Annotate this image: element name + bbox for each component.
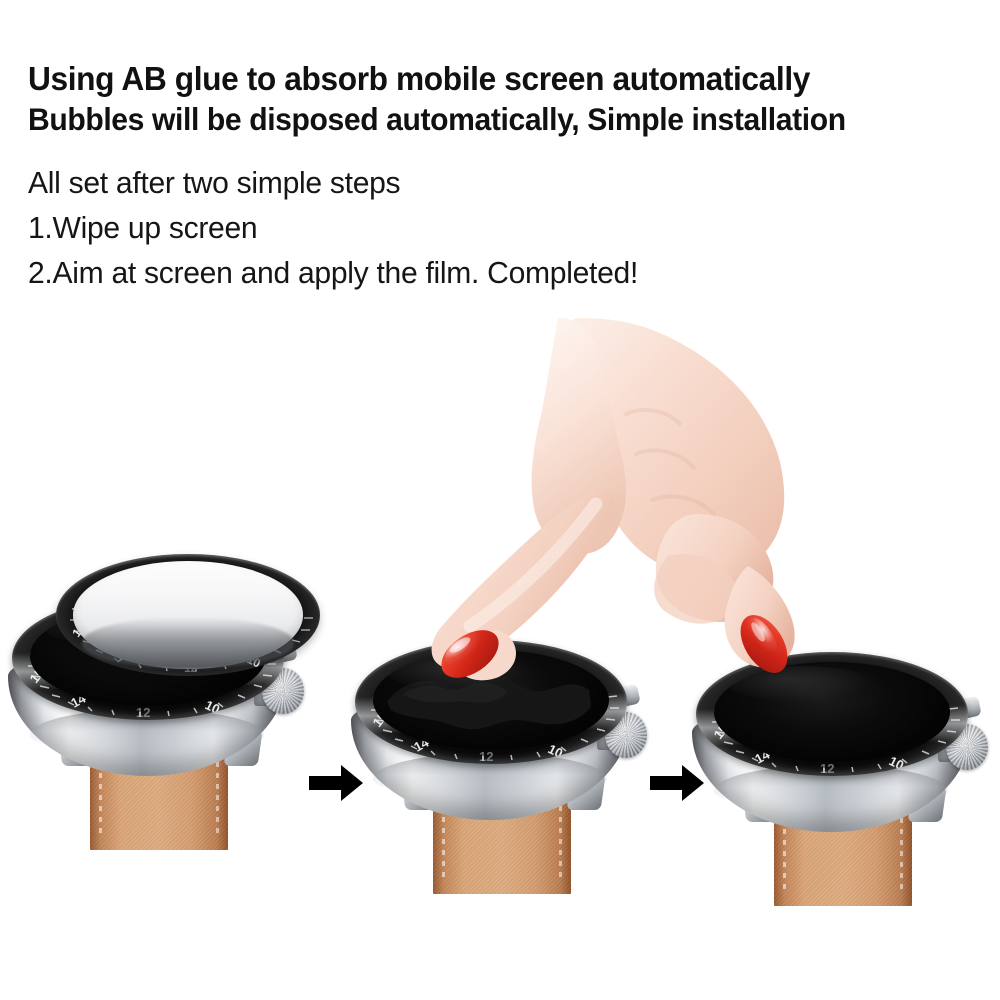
svg-text:12: 12 [479, 749, 493, 764]
watch-illustration-scene: 15 14 12 10 [0, 0, 1000, 1000]
hand-illustration-icon [430, 318, 850, 698]
arrow-right-icon [307, 763, 365, 803]
svg-text:10: 10 [203, 697, 223, 717]
film-underside-shadow [82, 617, 293, 668]
film-bezel-ring: 15 14 12 10 [56, 554, 320, 676]
svg-text:12: 12 [820, 761, 834, 776]
svg-text:12: 12 [136, 705, 150, 720]
arrow-step-2-to-3 [648, 763, 706, 803]
arrow-step-1-to-2 [307, 763, 365, 803]
screen-protector-film: 15 14 12 10 [56, 554, 320, 676]
screen-protector-instruction-page: Using AB glue to absorb mobile screen au… [0, 0, 1000, 1000]
arrow-right-icon [648, 763, 706, 803]
hand-pressing-film [430, 318, 850, 698]
watch-step-1: 15 14 12 10 [4, 556, 314, 846]
svg-text:10: 10 [887, 753, 907, 773]
